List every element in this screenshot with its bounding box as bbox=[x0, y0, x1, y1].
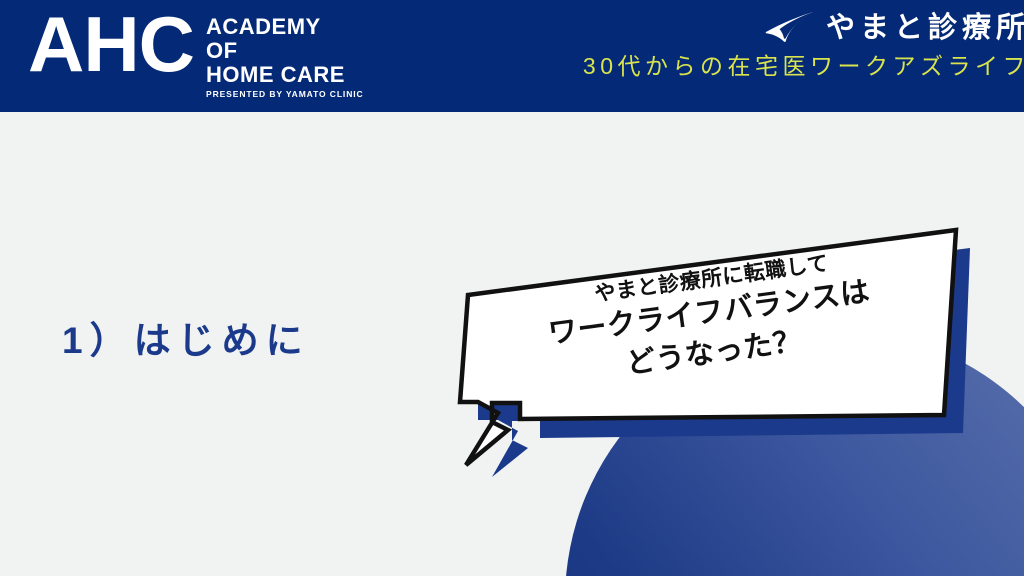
ahc-logo-line-homecare: HOME CARE bbox=[206, 63, 364, 87]
ahc-logo-tagline: PRESENTED BY YAMATO CLINIC bbox=[206, 89, 364, 99]
yamato-swoosh-icon bbox=[760, 10, 818, 46]
ahc-logo-lockup: AHC ACADEMY OF HOME CARE PRESENTED BY YA… bbox=[28, 9, 364, 99]
yamato-brand-block: やまと診療所 30代からの在宅医ワークアズライフ bbox=[583, 10, 1024, 78]
ahc-logo-line-academy: ACADEMY bbox=[206, 15, 364, 39]
speech-bubble: やまと診療所に転職して ワークライフバランスは どうなった？ bbox=[440, 215, 1000, 495]
slide-root: AHC ACADEMY OF HOME CARE PRESENTED BY YA… bbox=[0, 0, 1024, 576]
yamato-brand-name: やまと診療所 bbox=[826, 14, 1024, 43]
yamato-brand-row: やまと診療所 bbox=[583, 10, 1024, 46]
ahc-logo-line-of: OF bbox=[206, 39, 364, 63]
slide-header: AHC ACADEMY OF HOME CARE PRESENTED BY YA… bbox=[0, 0, 1024, 112]
ahc-acronym: AHC bbox=[28, 9, 194, 81]
ahc-logo-wordmark: ACADEMY OF HOME CARE PRESENTED BY YAMATO… bbox=[206, 9, 364, 99]
yamato-brand-subtitle: 30代からの在宅医ワークアズライフ bbox=[583, 55, 1024, 78]
section-title: 1）はじめに bbox=[62, 310, 310, 364]
